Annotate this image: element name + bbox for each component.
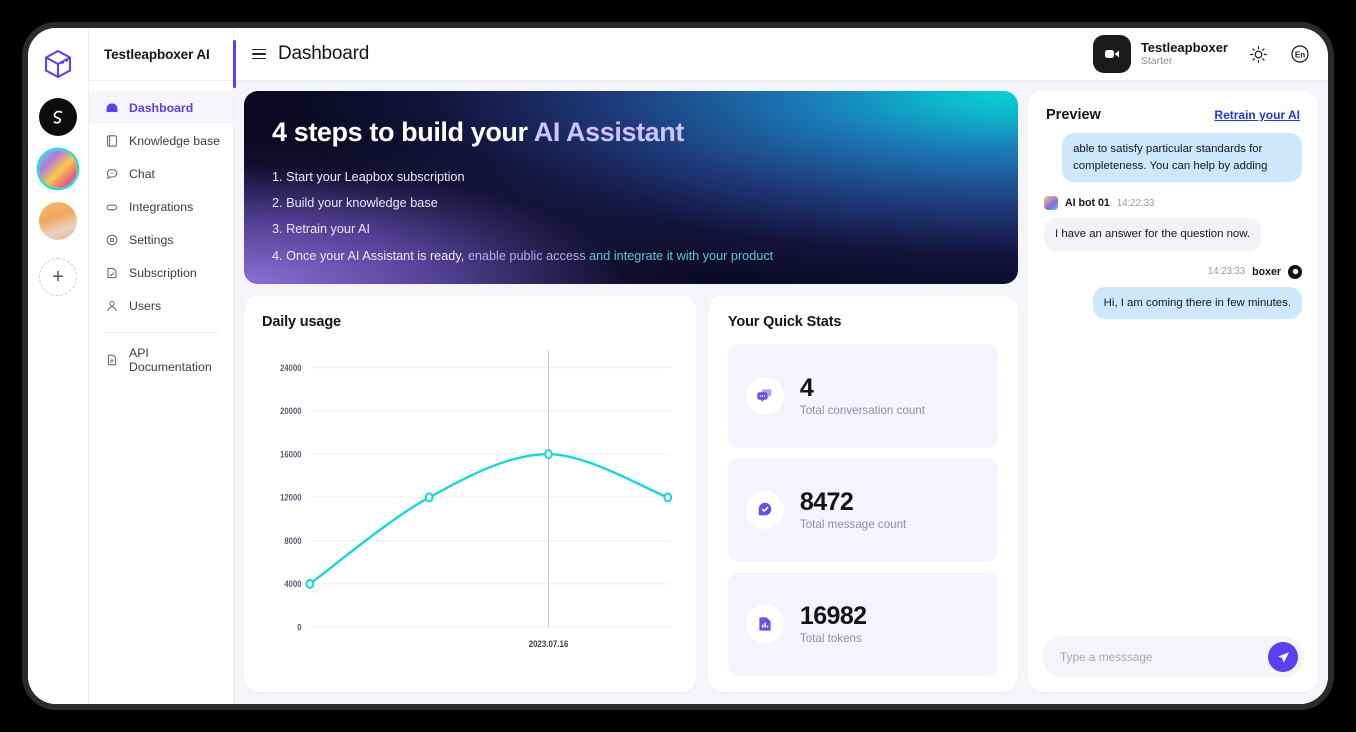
chat-message-row: able to satisfy particular standards for… [1044, 133, 1302, 182]
stat-text: 8472 Total message count [800, 489, 906, 531]
sidebar: Testleapboxer AI Dashboard Knowledge bas… [88, 28, 234, 704]
sidebar-item-api-documentation[interactable]: API Documentation [89, 343, 233, 376]
chart-data-point[interactable] [307, 580, 314, 588]
account-plan-badge: Starter [1141, 55, 1228, 67]
chart-y-tick-label: 16000 [280, 449, 302, 460]
message-composer [1028, 624, 1318, 692]
sidebar-label: Subscription [129, 266, 197, 280]
user-icon [104, 298, 119, 313]
stat-label: Total tokens [800, 632, 867, 645]
chart-area[interactable]: 04000800012000160002000024000 2023.07.16 [262, 340, 678, 680]
quick-stats-card: Your Quick Stats [708, 296, 1018, 692]
bar-chart-icon [746, 605, 784, 643]
chart-y-tick-label: 20000 [280, 405, 302, 416]
banner-step-1: 1. Start your Leapbox subscription [272, 170, 990, 185]
receipt-icon [104, 265, 119, 280]
chart-gridlines [310, 368, 670, 627]
home-icon [104, 100, 119, 115]
chart-y-axis-ticks: 04000800012000160002000024000 [280, 362, 302, 632]
chart-y-tick-label: 24000 [280, 362, 302, 373]
chat-bubble-icon [104, 166, 119, 181]
daily-usage-line-chart[interactable]: 04000800012000160002000024000 2023.07.16 [262, 340, 678, 680]
stat-text: 4 Total conversation count [800, 375, 925, 417]
sidebar-item-subscription[interactable]: Subscription [89, 256, 233, 289]
sidebar-item-users[interactable]: Users [89, 289, 233, 322]
device-frame: + Testleapboxer AI Dashboard Knowledge b… [22, 22, 1334, 710]
sidebar-label: Users [129, 299, 161, 313]
stats-list: 4 Total conversation count [728, 344, 998, 676]
banner-step-4-c: and integrate it with your product [589, 249, 773, 263]
sidebar-item-dashboard[interactable]: Dashboard [89, 91, 233, 124]
workspace-avatar-swirl[interactable] [39, 98, 77, 136]
content-body: 4 steps to build your AI Assistant 1. St… [234, 81, 1328, 704]
preview-header: Preview Retrain your AI [1028, 91, 1318, 129]
content-left: 4 steps to build your AI Assistant 1. St… [244, 91, 1018, 692]
chart-series-line [310, 454, 668, 584]
banner-step-4: 4. Once your AI Assistant is ready, enab… [272, 249, 990, 264]
chat-message-row: Hi, I am coming there in few minutes. [1044, 287, 1302, 320]
sidebar-scrollbar[interactable] [233, 40, 236, 88]
chart-data-point[interactable] [426, 493, 433, 501]
cards-row: Daily usage 0400080001200016000200002400… [244, 296, 1018, 692]
sun-icon[interactable] [1246, 42, 1270, 66]
chart-data-point[interactable] [545, 450, 552, 458]
add-workspace-label: + [52, 267, 64, 287]
chat-timestamp: 14:23:33 [1208, 266, 1245, 277]
composer-box [1042, 636, 1304, 678]
account-menu[interactable]: Testleapboxer Starter [1093, 35, 1228, 73]
workspace-avatar-art[interactable] [39, 150, 77, 188]
chat-meta: 14:23:33 boxer [1044, 265, 1302, 279]
sidebar-item-settings[interactable]: Settings [89, 223, 233, 256]
stat-label: Total message count [800, 518, 906, 531]
retrain-your-ai-link[interactable]: Retrain your AI [1214, 108, 1300, 122]
daily-usage-card: Daily usage 0400080001200016000200002400… [244, 296, 696, 692]
stat-value: 8472 [800, 489, 906, 515]
sidebar-item-chat[interactable]: Chat [89, 157, 233, 190]
sidebar-item-integrations[interactable]: Integrations [89, 190, 233, 223]
banner-title: 4 steps to build your AI Assistant [272, 117, 990, 148]
workspace-avatar-orange[interactable] [39, 202, 77, 240]
sidebar-label: Settings [129, 233, 173, 247]
sidebar-divider [104, 332, 218, 333]
stat-total-conversation-count[interactable]: 4 Total conversation count [728, 344, 998, 448]
book-icon [104, 133, 119, 148]
sidebar-label: Dashboard [129, 101, 193, 115]
message-input[interactable] [1060, 650, 1268, 664]
add-workspace-button[interactable]: + [39, 258, 77, 296]
stat-value: 16982 [800, 603, 867, 629]
sidebar-label: Knowledge base [129, 134, 220, 148]
chart-title: Daily usage [262, 314, 678, 330]
language-en-icon[interactable]: En [1288, 42, 1312, 66]
banner-title-main: 4 steps to build your [272, 117, 534, 147]
chat-timestamp: 14:22:33 [1117, 198, 1154, 209]
chat-message-row: I have an answer for the question now. [1044, 218, 1302, 251]
cube-logo-icon[interactable] [38, 44, 78, 84]
chat-meta: AI bot 01 14:22:33 [1044, 196, 1302, 210]
chat-bubble: I have an answer for the question now. [1044, 218, 1261, 251]
stat-text: 16982 Total tokens [800, 603, 867, 645]
chat-bubble: able to satisfy particular standards for… [1062, 133, 1302, 182]
check-bubble-icon [746, 491, 784, 529]
bot-avatar-icon [1044, 196, 1058, 210]
stat-label: Total conversation count [800, 404, 925, 417]
sidebar-label: Integrations [129, 200, 193, 214]
send-paper-plane-icon[interactable] [1268, 642, 1298, 672]
app-window: + Testleapboxer AI Dashboard Knowledge b… [28, 28, 1328, 704]
chart-y-tick-label: 8000 [284, 535, 301, 546]
onboarding-banner: 4 steps to build your AI Assistant 1. St… [244, 91, 1018, 284]
preview-panel: Preview Retrain your AI able to satisfy … [1028, 91, 1318, 692]
chat-bubble: Hi, I am coming there in few minutes. [1093, 287, 1302, 320]
sidebar-nav: Dashboard Knowledge base Chat Integratio… [89, 81, 233, 704]
page-title: Dashboard [278, 43, 369, 65]
chart-y-tick-label: 4000 [284, 578, 301, 589]
chart-y-tick-label: 0 [297, 622, 302, 633]
banner-step-3: 3. Retrain your AI [272, 222, 990, 237]
chat-bubbles-icon [746, 377, 784, 415]
account-name: Testleapboxer [1141, 41, 1228, 56]
main-column: Dashboard Testleapboxer Starter [234, 28, 1328, 704]
chart-data-point[interactable] [664, 493, 671, 501]
chat-transcript[interactable]: able to satisfy particular standards for… [1028, 129, 1318, 624]
sidebar-label: Chat [129, 167, 155, 181]
sidebar-label: API Documentation [129, 346, 233, 374]
chat-sender: boxer [1252, 266, 1281, 278]
chat-sender: AI bot 01 [1065, 197, 1110, 209]
link-icon [104, 199, 119, 214]
stat-total-tokens[interactable]: 16982 Total tokens [728, 572, 998, 676]
brand-title: Testleapboxer AI [89, 28, 233, 81]
banner-step-4-a: 4. Once your AI Assistant is ready, [272, 249, 468, 263]
svg-text:En: En [1295, 50, 1305, 59]
stat-total-message-count[interactable]: 8472 Total message count [728, 458, 998, 562]
chart-markers [307, 450, 672, 588]
avatar [1093, 35, 1131, 73]
stat-value: 4 [800, 375, 925, 401]
banner-title-accent: AI Assistant [534, 117, 684, 147]
stats-title: Your Quick Stats [728, 314, 998, 330]
account-text: Testleapboxer Starter [1141, 41, 1228, 68]
user-avatar-icon [1288, 265, 1302, 279]
chart-x-tick-label: 2023.07.16 [529, 639, 569, 650]
chart-y-tick-label: 12000 [280, 492, 302, 503]
banner-content: 4 steps to build your AI Assistant 1. St… [272, 117, 990, 264]
document-icon [104, 352, 119, 367]
sidebar-item-knowledge-base[interactable]: Knowledge base [89, 124, 233, 157]
banner-step-2: 2. Build your knowledge base [272, 196, 990, 211]
gear-icon [104, 232, 119, 247]
hamburger-icon[interactable] [252, 49, 266, 60]
workspace-rail: + [28, 28, 88, 704]
topbar: Dashboard Testleapboxer Starter [234, 28, 1328, 81]
preview-title: Preview [1046, 107, 1101, 123]
banner-step-4-b: enable public access [468, 249, 589, 263]
